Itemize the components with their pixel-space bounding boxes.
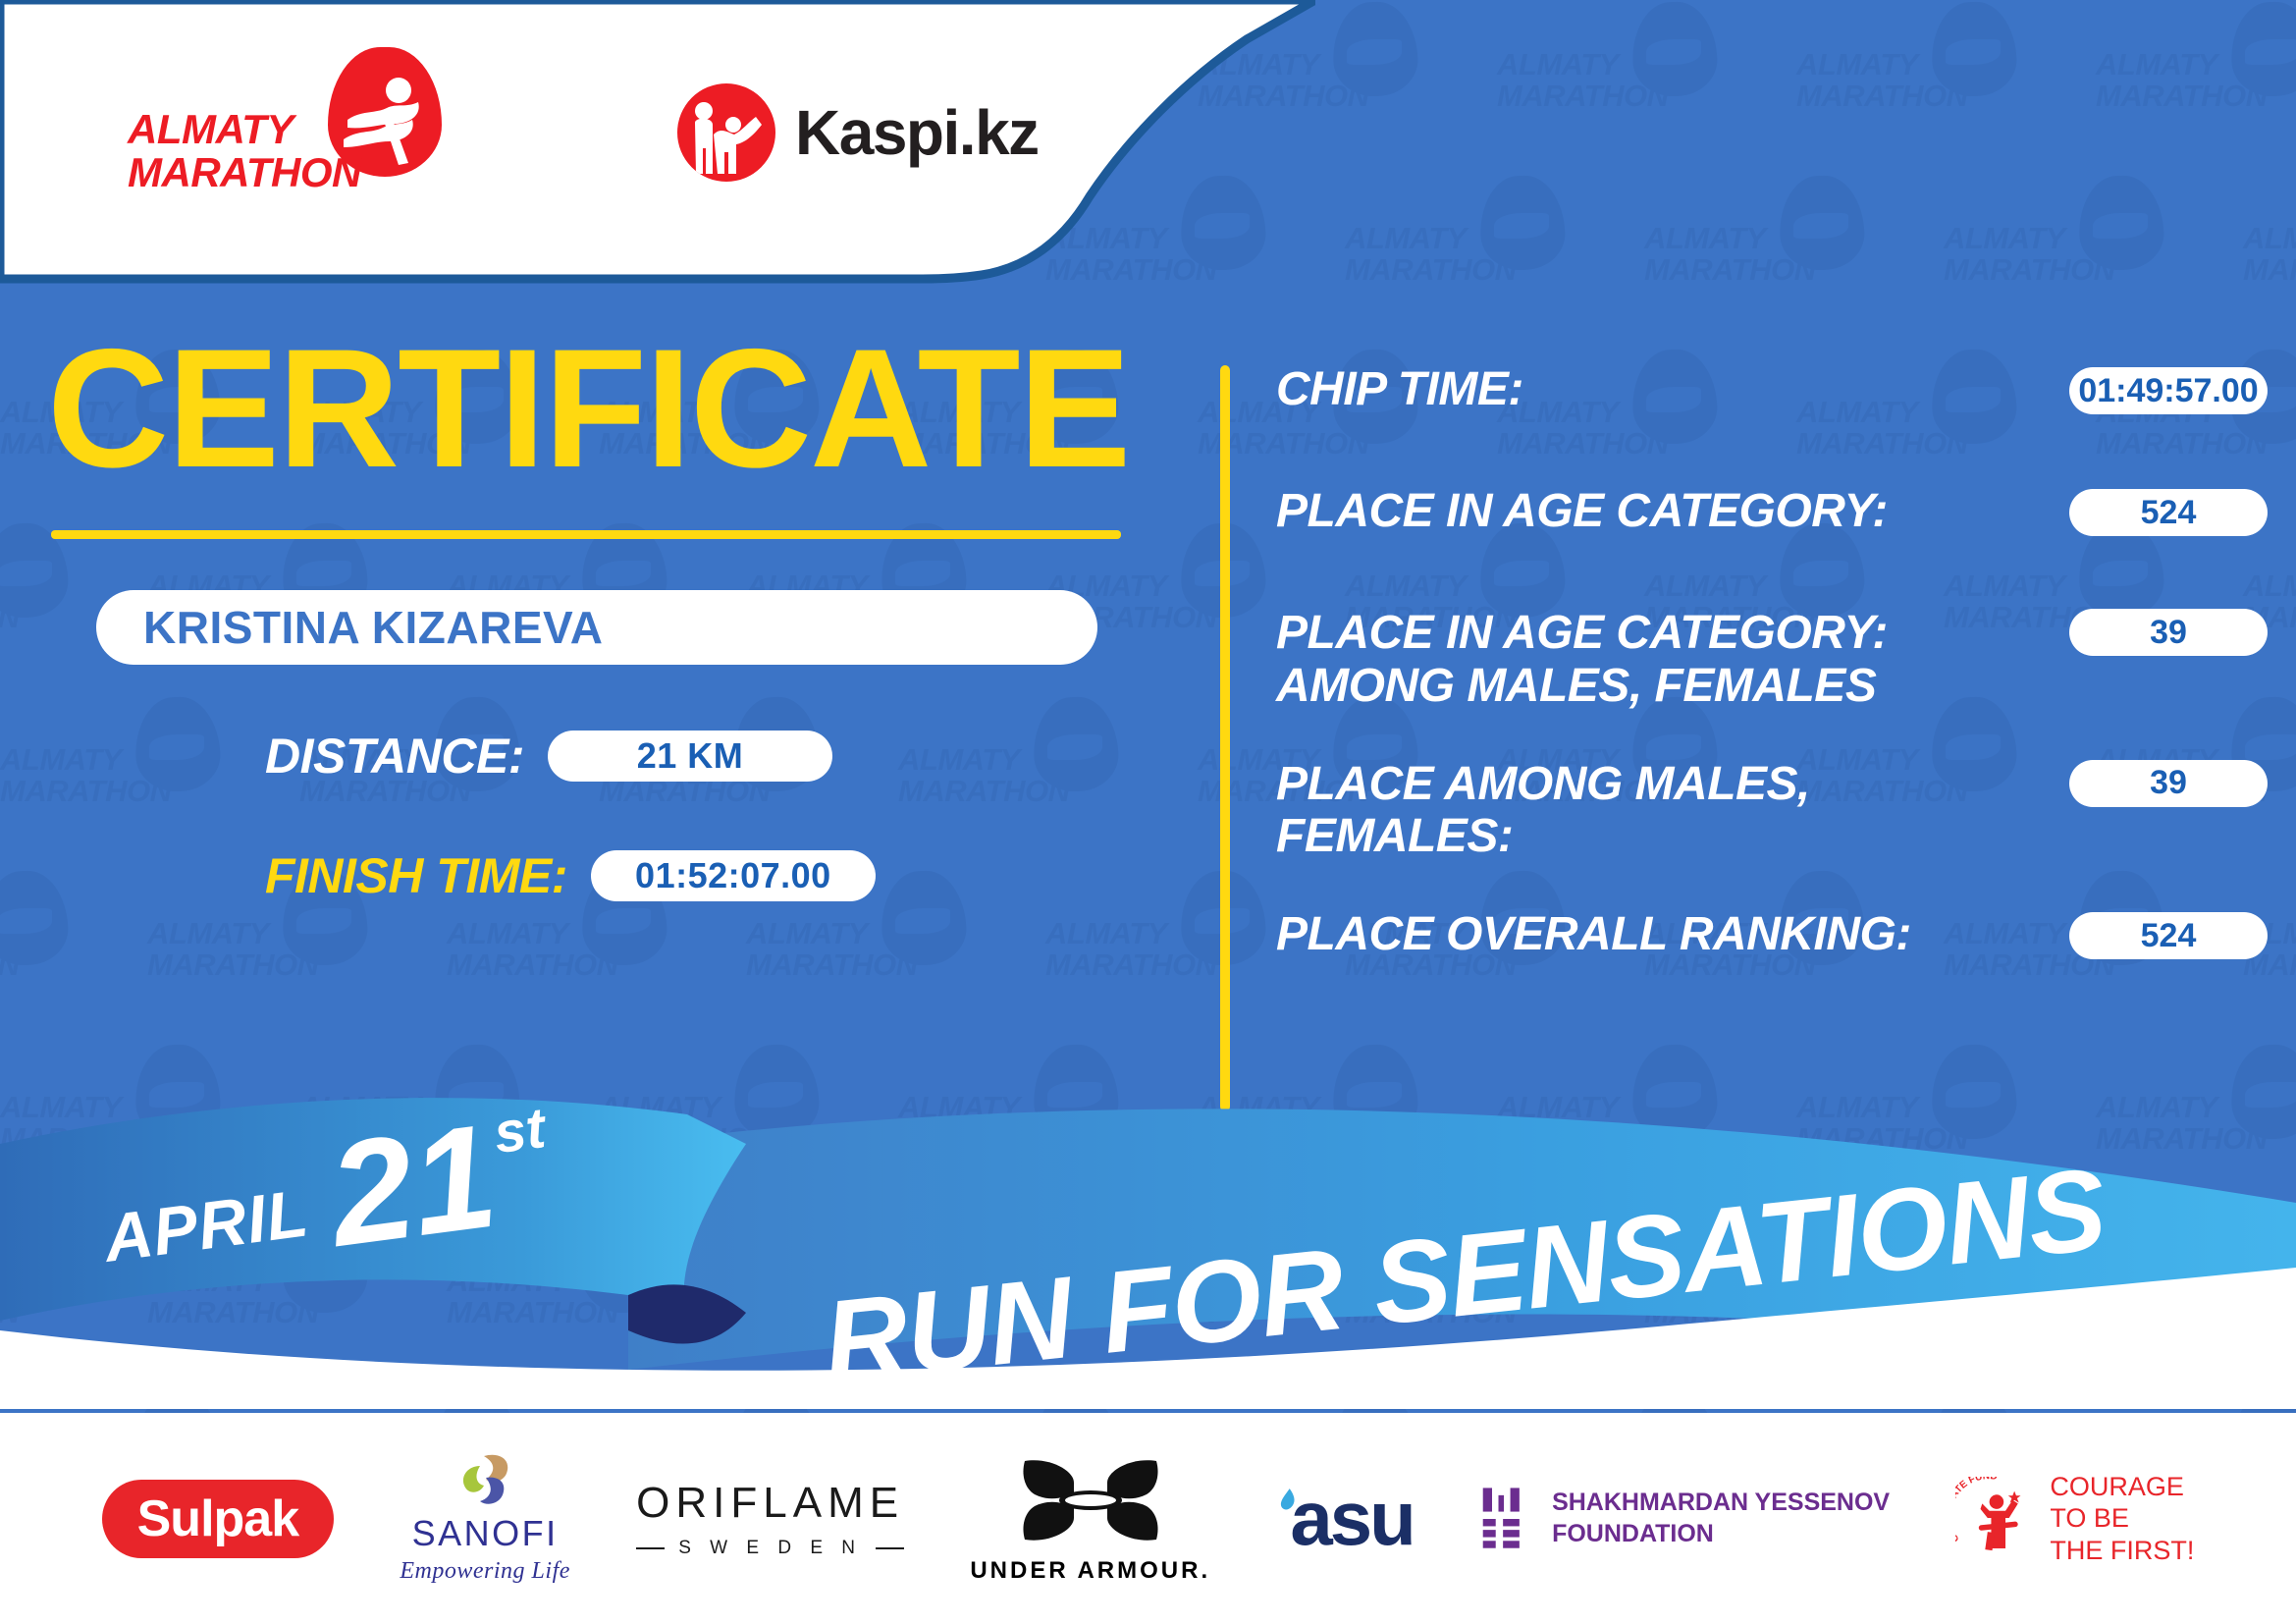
- finish-time-value: 01:52:07.00: [635, 855, 831, 896]
- stat-value-pill: 39: [2069, 609, 2268, 656]
- sanofi-wordmark: SANOFI: [412, 1513, 559, 1554]
- watermark-tile: ALMATYMARATHON: [1796, 0, 2022, 137]
- sanofi-mark-icon: [454, 1452, 515, 1507]
- oriflame-wordmark: ORIFLAME: [636, 1479, 904, 1528]
- yessenov-wordmark: SHAKHMARDAN YESSENOV FOUNDATION: [1552, 1488, 1890, 1549]
- under-armour-mark-icon: [1017, 1453, 1164, 1547]
- kaspi-logo: Kaspi.kz: [677, 83, 1039, 182]
- asu-wordmark: asu: [1290, 1474, 1413, 1563]
- stat-value-pill: 39: [2069, 760, 2268, 807]
- left-column: CERTIFICATE KRISTINA KIZAREVA DISTANCE: …: [0, 324, 1178, 904]
- stat-label: PLACE IN AGE CATEGORY: AMONG MALES, FEMA…: [1276, 607, 1909, 713]
- event-day: 21: [323, 1111, 502, 1259]
- stat-label: PLACE OVERALL RANKING:: [1276, 908, 1933, 961]
- watermark-tile: ALMATYMARATHON: [1345, 174, 1571, 311]
- event-month: APRIL: [99, 1174, 312, 1277]
- stat-value: 524: [2141, 917, 2197, 955]
- metric-row-finish-time: FINISH TIME: 01:52:07.00: [265, 847, 1178, 904]
- distance-value: 21 KM: [637, 735, 744, 777]
- watermark-tile: ALMATYMARATHON: [1944, 174, 2169, 311]
- metric-row-distance: DISTANCE: 21 KM: [265, 728, 1178, 785]
- oriflame-tagline: S W E D E N: [678, 1538, 862, 1559]
- stat-place-among-males-females: PLACE AMONG MALES, FEMALES: 39: [1276, 758, 2268, 864]
- stat-value: 39: [2150, 614, 2187, 652]
- courage-wordmark: COURAGE TO BE THE FIRST!: [2050, 1471, 2194, 1566]
- vertical-divider: [1220, 365, 1230, 1111]
- watermark-tile: ALMATYMARATHON: [2096, 0, 2296, 137]
- stat-value: 39: [2150, 764, 2187, 802]
- oriflame-subline: S W E D E N: [636, 1538, 904, 1559]
- finish-time-value-pill: 01:52:07.00: [591, 850, 876, 901]
- stat-place-overall-ranking: PLACE OVERALL RANKING: 524: [1276, 908, 2268, 985]
- stat-value-pill: 01:49:57.00: [2069, 367, 2268, 414]
- sanofi-tagline: Empowering Life: [400, 1558, 570, 1585]
- stat-value-pill: 524: [2069, 912, 2268, 959]
- stat-label: CHIP TIME:: [1276, 363, 1545, 416]
- stat-chip-time: CHIP TIME: 01:49:57.00: [1276, 363, 2268, 440]
- sponsor-strip: Sulpak SANOFI Empowering Life ORIFLAME S…: [0, 1413, 2296, 1624]
- stat-place-age-category-among: PLACE IN AGE CATEGORY: AMONG MALES, FEMA…: [1276, 607, 2268, 713]
- oriflame-rule-right: [876, 1547, 904, 1549]
- sanofi-logo: SANOFI Empowering Life: [400, 1452, 570, 1585]
- certificate-title: CERTIFICATE: [47, 324, 1178, 493]
- stat-value-pill: 524: [2069, 489, 2268, 536]
- almaty-logo-line1: ALMATY: [128, 106, 294, 153]
- almaty-marathon-logo: ALMATY MARATHON: [128, 47, 442, 194]
- yessenov-bars-icon: [1479, 1486, 1530, 1552]
- stat-label: PLACE IN AGE CATEGORY:: [1276, 485, 1909, 538]
- finish-time-label: FINISH TIME:: [265, 847, 567, 904]
- watermark-tile: ALMATYMARATHON: [2243, 174, 2296, 311]
- distance-value-pill: 21 KM: [548, 731, 832, 782]
- watermark-tile: ALMATYMARATHON: [1644, 174, 1870, 311]
- stat-value: 01:49:57.00: [2078, 372, 2258, 410]
- kaspi-people-circle-icon: [677, 83, 775, 182]
- oriflame-rule-left: [636, 1547, 665, 1549]
- kaspi-wordmark: Kaspi.kz: [795, 96, 1039, 169]
- almaty-logo-line2: MARATHON: [128, 149, 361, 196]
- title-underline: [51, 530, 1121, 539]
- recipient-name-value: KRISTINA KIZAREVA: [143, 601, 604, 654]
- stat-value: 524: [2141, 494, 2197, 532]
- under-armour-logo: UNDER ARMOUR.: [970, 1453, 1210, 1585]
- stats-column: CHIP TIME: 01:49:57.00 PLACE IN AGE CATE…: [1276, 363, 2268, 1030]
- under-armour-wordmark: UNDER ARMOUR.: [970, 1557, 1210, 1585]
- certificate-canvas: ALMATYMARATHONALMATYMARATHONALMATYMARATH…: [0, 0, 2296, 1624]
- stat-place-age-category: PLACE IN AGE CATEGORY: 524: [1276, 485, 2268, 562]
- asu-logo: asu: [1276, 1474, 1413, 1563]
- courage-runner-icon: CORPORATE FUND: [1955, 1477, 2036, 1559]
- distance-label: DISTANCE:: [265, 728, 524, 785]
- courage-fund-logo: CORPORATE FUND COURAGE TO BE THE FIRST!: [1955, 1471, 2194, 1566]
- yessenov-foundation-logo: SHAKHMARDAN YESSENOV FOUNDATION: [1479, 1486, 1890, 1552]
- oriflame-logo: ORIFLAME S W E D E N: [636, 1479, 904, 1559]
- sulpak-logo: Sulpak: [102, 1480, 335, 1558]
- event-day-ordinal: st: [490, 1095, 549, 1166]
- watermark-tile: ALMATYMARATHON: [1497, 0, 1723, 137]
- recipient-name-field: KRISTINA KIZAREVA: [96, 590, 1097, 665]
- stat-label: PLACE AMONG MALES, FEMALES:: [1276, 758, 1832, 864]
- sulpak-wordmark: Sulpak: [137, 1489, 299, 1548]
